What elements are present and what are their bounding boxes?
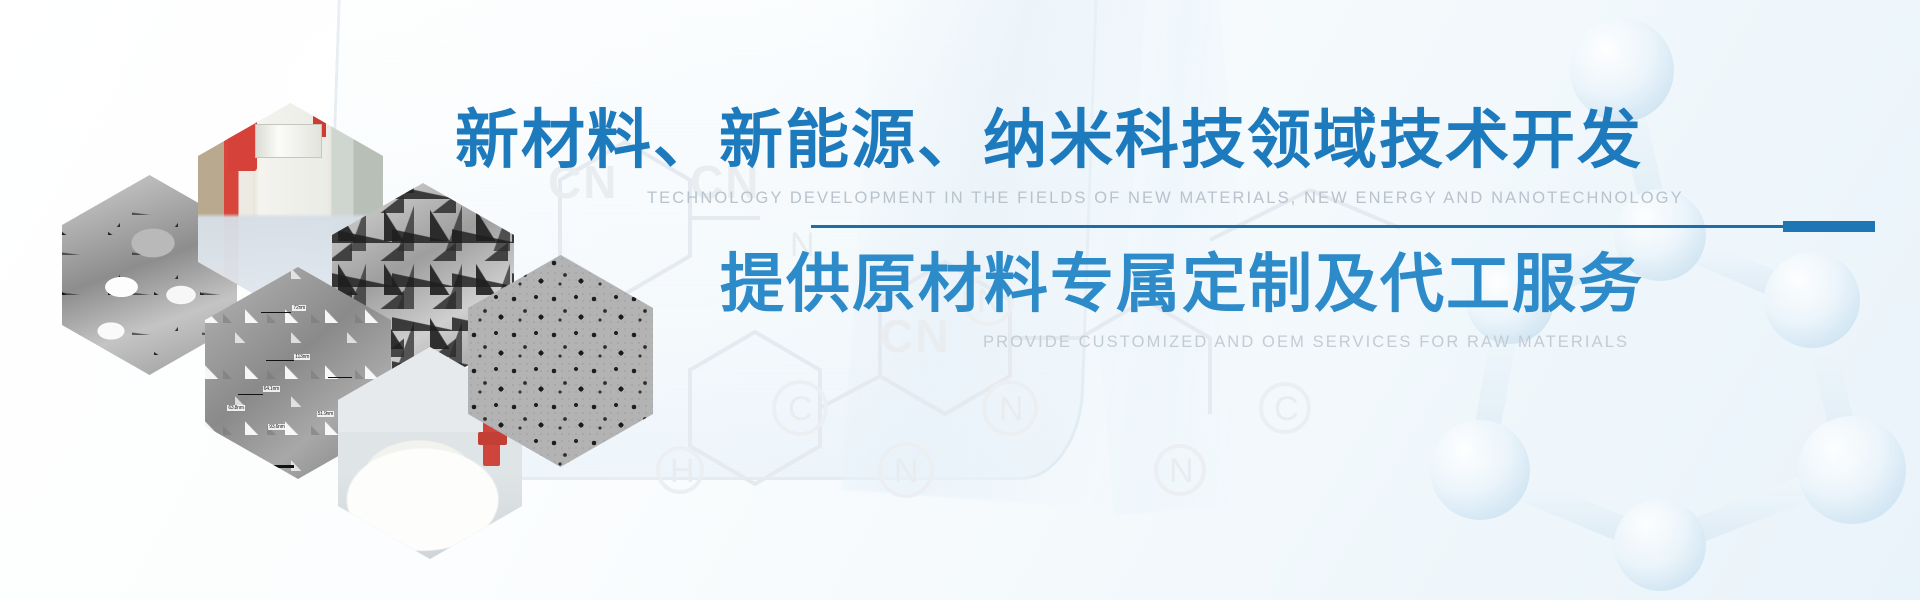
- banner-headline-secondary: 提供原材料专属定制及代工服务: [720, 249, 1875, 321]
- svg-text:N: N: [894, 452, 920, 490]
- measure-tick-1: [261, 312, 291, 313]
- measure-label-6: 63.8nm: [227, 405, 244, 411]
- bottle-neck: [255, 124, 322, 158]
- measure-label-1: 72nm: [292, 305, 306, 311]
- bottle-cap-red: [228, 116, 258, 171]
- banner-subtitle-primary: TECHNOLOGY DEVELOPMENT IN THE FIELDS OF …: [647, 189, 1875, 208]
- svg-text:C: C: [1274, 390, 1300, 428]
- banner-subtitle-secondary: PROVIDE CUSTOMIZED AND OEM SERVICES FOR …: [983, 333, 1875, 352]
- svg-text:C: C: [788, 390, 814, 428]
- banner-divider: [811, 225, 1875, 228]
- measure-tick-3: [238, 394, 262, 395]
- svg-text:H: H: [670, 452, 696, 490]
- measure-label-2: 113nm: [294, 354, 310, 360]
- svg-text:N: N: [999, 390, 1025, 428]
- measure-tick-2: [266, 360, 294, 361]
- measure-label-4: 51.9nm: [317, 411, 334, 417]
- banner-headline-primary: 新材料、新能源、纳米科技领域技术开发: [455, 105, 1875, 177]
- scale-bar: [231, 465, 294, 468]
- measure-label-5: 93.6nm: [268, 424, 285, 430]
- divider-end-cap: [1783, 221, 1875, 232]
- svg-text:N: N: [1169, 452, 1195, 490]
- measure-tick-4: [328, 377, 352, 378]
- measure-label-3: 64.1nm: [263, 386, 280, 392]
- hero-banner: C N N H N N C N CN CN CN: [0, 0, 1920, 600]
- scale-bar-label: 100 nm: [220, 454, 237, 460]
- banner-text-block: 新材料、新能源、纳米科技领域技术开发 TECHNOLOGY DEVELOPMEN…: [455, 105, 1875, 352]
